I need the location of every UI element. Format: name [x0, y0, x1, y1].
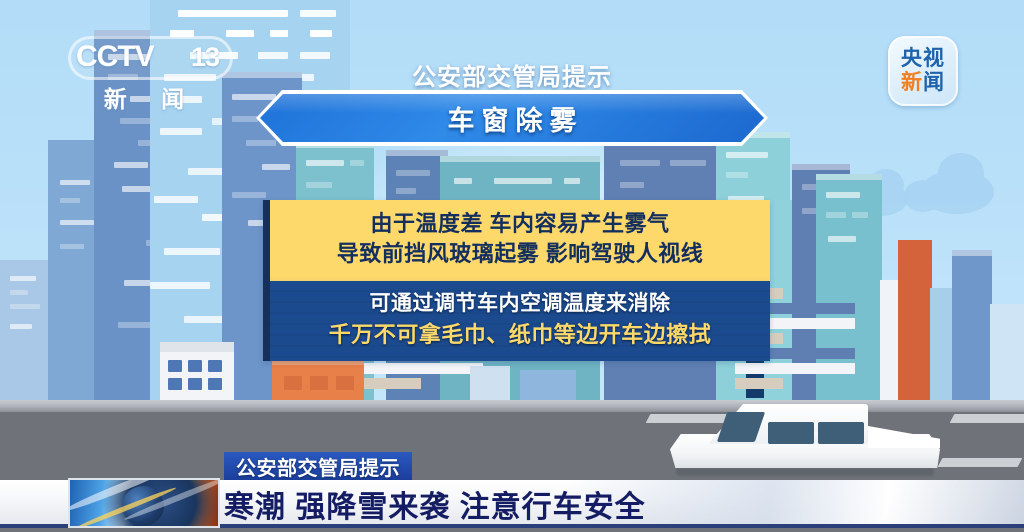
panel-cause-line-1: 由于温度差 车内容易产生雾气 [270, 209, 770, 239]
building [990, 304, 1024, 400]
building-shop [160, 342, 234, 400]
building [880, 280, 900, 400]
panel-cause-line-2: 导致前挡风玻璃起雾 影响驾驶人视线 [270, 239, 770, 269]
building [898, 240, 932, 400]
broadcast-screen: CCTV 13 新 闻 央视 新闻 公安部交管局提示 车窗除雾 由于温度差 车内… [0, 0, 1024, 532]
building [930, 288, 952, 400]
lane-marking [950, 414, 1024, 423]
topic-banner: 车窗除雾 [256, 90, 768, 146]
panel-advice-line-1: 可通过调节车内空调温度来消除 [270, 289, 770, 319]
panel-advice: 可通过调节车内空调温度来消除 千万不可拿毛巾、纸巾等边开车边擦拭 [263, 281, 770, 361]
car-window [818, 422, 864, 444]
car-window [768, 422, 814, 444]
building-shop [470, 366, 510, 400]
cloud-icon [920, 170, 994, 214]
lower-third-headline: 寒潮 强降雪来袭 注意行车安全 [224, 481, 646, 527]
panel-advice-line-2: 千万不可拿毛巾、纸巾等边开车边擦拭 [270, 319, 770, 350]
globe-graphic-icon [68, 478, 220, 528]
car-illustration [670, 404, 940, 476]
header-title: 公安部交管局提示 [0, 57, 1024, 92]
lower-third-tag: 公安部交管局提示 [224, 452, 412, 480]
panel-cause: 由于温度差 车内容易产生雾气 导致前挡风玻璃起雾 影响驾驶人视线 [263, 200, 770, 281]
building-shop [520, 370, 576, 400]
banner-label: 车窗除雾 [256, 90, 768, 146]
building-shop [272, 356, 364, 400]
info-panels: 由于温度差 车内容易产生雾气 导致前挡风玻璃起雾 影响驾驶人视线 可通过调节车内… [263, 200, 770, 361]
lane-marking [938, 458, 1023, 467]
building [952, 250, 992, 400]
